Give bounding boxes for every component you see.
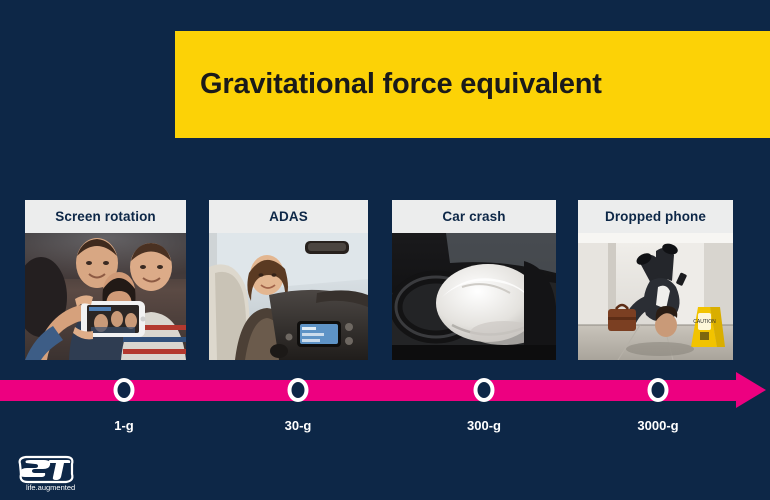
timeline-tick-label: 30-g xyxy=(285,418,312,433)
st-logo-tagline: life.augmented xyxy=(26,483,75,492)
title-banner: Gravitational force equivalent xyxy=(175,31,770,138)
timeline-marker-dot xyxy=(288,378,309,402)
photo-driver-in-car xyxy=(209,233,368,360)
photo-person-slipping: CAUTION xyxy=(578,233,733,360)
card-label: Dropped phone xyxy=(578,200,733,233)
card-dropped-phone[interactable]: Dropped phone xyxy=(578,200,733,360)
timeline-tick-label: 1-g xyxy=(114,418,134,433)
timeline-marker-dot xyxy=(114,378,135,402)
timeline-bar xyxy=(0,380,740,401)
card-label: ADAS xyxy=(209,200,368,233)
timeline-tick-label: 3000-g xyxy=(637,418,678,433)
card-adas[interactable]: ADAS xyxy=(209,200,368,360)
timeline-arrow-icon xyxy=(736,372,766,408)
photo-deployed-airbag xyxy=(392,233,556,360)
card-label: Car crash xyxy=(392,200,556,233)
photo-group-selfie xyxy=(25,233,186,360)
page-title: Gravitational force equivalent xyxy=(200,68,602,101)
card-car-crash[interactable]: Car crash xyxy=(392,200,556,360)
timeline: 1-g 30-g 300-g 3000-g xyxy=(0,373,770,433)
timeline-marker-dot xyxy=(474,378,495,402)
st-logo-mark xyxy=(20,457,73,482)
timeline-tick-label: 300-g xyxy=(467,418,501,433)
timeline-marker-dot xyxy=(648,378,669,402)
svg-text:CAUTION: CAUTION xyxy=(693,319,716,325)
card-label: Screen rotation xyxy=(25,200,186,233)
slide-root: Gravitational force equivalent Screen ro… xyxy=(0,0,770,500)
card-screen-rotation[interactable]: Screen rotation xyxy=(25,200,186,360)
st-logo: life.augmented xyxy=(16,452,88,492)
